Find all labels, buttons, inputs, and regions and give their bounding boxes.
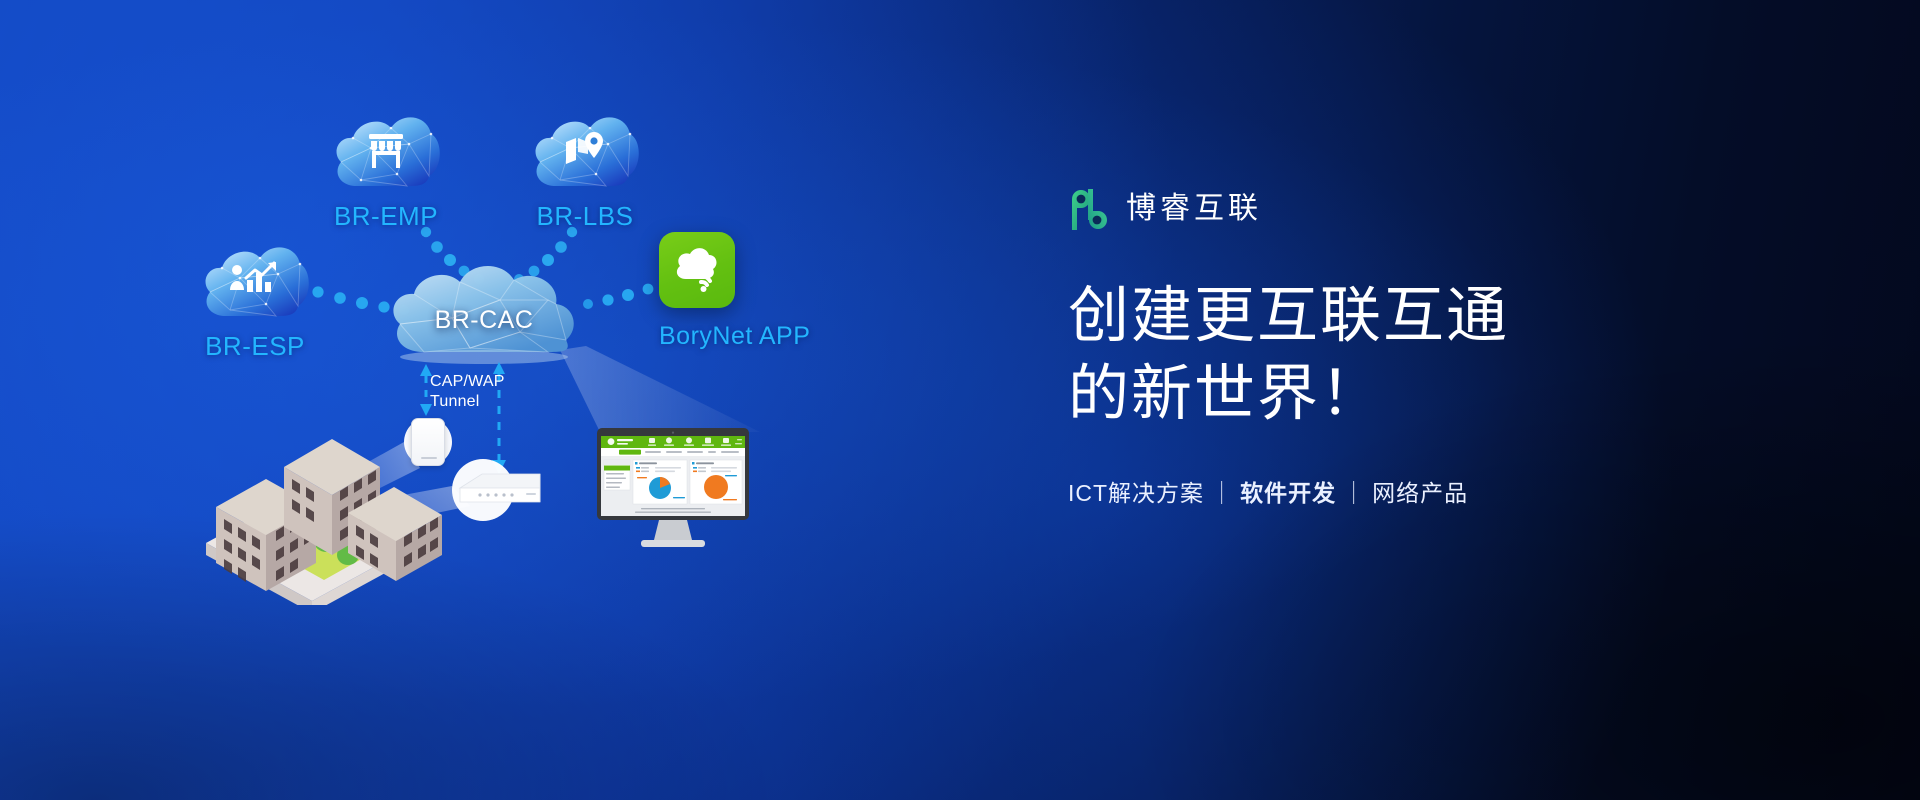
hero-banner: BR-CAC CAP/WAP Tunnel (0, 0, 1920, 800)
headline-line-1: 创建更互联互通 (1068, 281, 1509, 349)
tagline-sep-1: ｜ (1204, 480, 1240, 506)
page-title: 创建更互联互通 的新世界！ (1068, 276, 1788, 432)
desktop-monitor[interactable] (597, 428, 749, 550)
node-br-esp[interactable]: BR-ESP (200, 238, 310, 362)
hero-copy: 博睿互联 创建更互联互通 的新世界！ ICT解决方案｜软件开发｜网络产品 (1068, 186, 1788, 508)
br-cac-label: BR-CAC (398, 306, 570, 335)
br-esp-label: BR-ESP (200, 331, 310, 362)
tagline-item-3: 网络产品 (1372, 480, 1468, 506)
brand-lockup: 博睿互联 (1068, 186, 1788, 232)
brand-name: 博睿互联 (1126, 194, 1262, 224)
br-lbs-label: BR-LBS (530, 201, 640, 232)
node-br-emp[interactable]: BR-EMP (331, 108, 441, 232)
tagline-sep-2: ｜ (1336, 480, 1372, 506)
br-emp-label: BR-EMP (331, 201, 441, 232)
br-esp-cloud-icon (200, 238, 310, 325)
node-borynet-app[interactable]: BoryNet APP (659, 232, 735, 351)
br-emp-cloud-icon (331, 108, 441, 195)
borynet-logo-mark (1068, 187, 1110, 231)
tunnel-line-1: CAP/WAP (430, 373, 505, 390)
tagline-item-1: ICT解决方案 (1068, 480, 1204, 506)
headline-line-2: 的新世界！ (1068, 354, 1788, 432)
borynet-app-tile[interactable] (659, 232, 735, 308)
tagline-item-2: 软件开发 (1240, 480, 1336, 506)
service-tagline: ICT解决方案｜软件开发｜网络产品 (1068, 474, 1788, 508)
network-architecture-diagram: BR-CAC CAP/WAP Tunnel (0, 0, 1000, 800)
cloud-wifi-icon (672, 247, 722, 293)
borynet-app-label: BoryNet APP (659, 322, 735, 351)
node-br-lbs[interactable]: BR-LBS (530, 108, 640, 232)
br-lbs-cloud-icon (530, 108, 640, 195)
